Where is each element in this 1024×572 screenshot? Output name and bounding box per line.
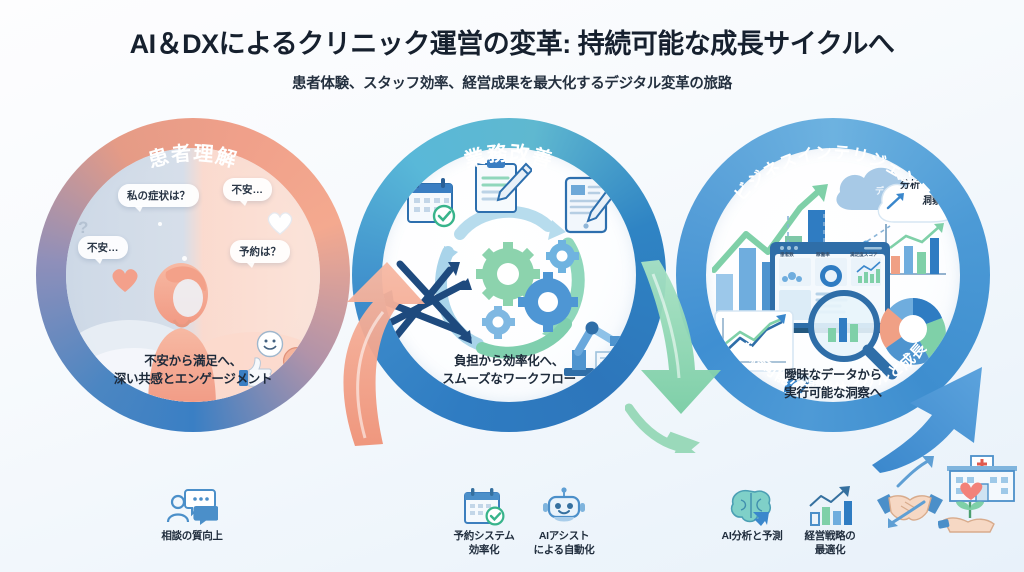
chat-bubbles-person-icon [140,488,244,526]
kpi-label-patients: 患者数 [780,252,794,258]
bottom-label-line-2: による自動化 [512,544,616,558]
kpi-label-utilization: 稼働率 [816,252,830,258]
bottom-label-line-1: AIアシスト [512,530,616,544]
cycle-arrow-icon [886,498,928,532]
bottom-label-line-1: 相談の質向上 [140,530,244,544]
page-subtitle: 患者体験、スタッフ効率、経営成果を最大化するデジタル変革の旅路 [0,72,1024,93]
bottom-label-line-1: 経営戦略の [778,530,882,544]
caption-line-1: 不安から満足へ、 [36,352,350,370]
stage-caption-3: 曖昧なデータから 実行可能な洞察へ [676,366,990,402]
decorative-dot [158,222,162,226]
heart-outline-icon [266,210,294,236]
heart-plant-hand-icon [916,496,1020,534]
kpi-label-satisfaction: 満足度スコア [850,252,878,258]
bottom-icon-row: 相談の質向上 予約システム [0,482,1024,568]
caption-line-2: 深い共感とエンゲージメント [36,370,350,388]
header: AI＆DXによるクリニック運営の変革: 持続可能な成長サイクルへ 患者体験、スタ… [0,0,1024,93]
robot-icon [512,488,616,526]
stage-caption-1: 不安から満足へ、 深い共感とエンゲージメント [36,352,350,388]
caption-line-2: 実行可能な洞察へ [676,384,990,402]
caption-line-1: 曖昧なデータから [676,366,990,384]
bottom-item-ai-assist[interactable]: AIアシスト による自動化 [512,488,616,557]
bottom-item-heart-plant-care[interactable] [916,496,1020,534]
clipboard-pencil-icon [470,158,532,216]
infographic-canvas: AI＆DXによるクリニック運営の変革: 持続可能な成長サイクルへ 患者体験、スタ… [0,0,1024,572]
heart-icon [110,266,140,294]
caption-line-2: スムーズなワークフロー [352,370,666,388]
caption-line-1: 負担から効率化へ、 [352,352,666,370]
tablet-pencil-icon [562,174,624,236]
stage-circle-patient-understanding[interactable]: ? 私の症状は？ 不安… 不安… 予約は？ [36,118,350,432]
stage-area: ? 私の症状は？ 不安… 不安… 予約は？ [0,108,1024,458]
decorative-dot [182,256,187,261]
question-mark-icon: ? [78,218,88,238]
cloud-label-insight: 洞察 [922,192,942,207]
speech-bubble-4: 予約は？ [230,240,290,263]
speech-bubble-1: 私の症状は？ [118,184,199,207]
bottom-item-consultation-quality[interactable]: 相談の質向上 [140,488,244,544]
calendar-check-icon [404,176,460,228]
stage-caption-2: 負担から効率化へ、 スムーズなワークフロー [352,352,666,388]
bottom-label-line-2: 最適化 [778,544,882,558]
speech-bubble-2: 不安… [223,178,273,201]
cloud-label-analysis: 分析 [900,176,920,191]
speech-bubble-3: 不安… [78,236,128,259]
page-title: AI＆DXによるクリニック運営の変革: 持続可能な成長サイクルへ [0,22,1024,61]
